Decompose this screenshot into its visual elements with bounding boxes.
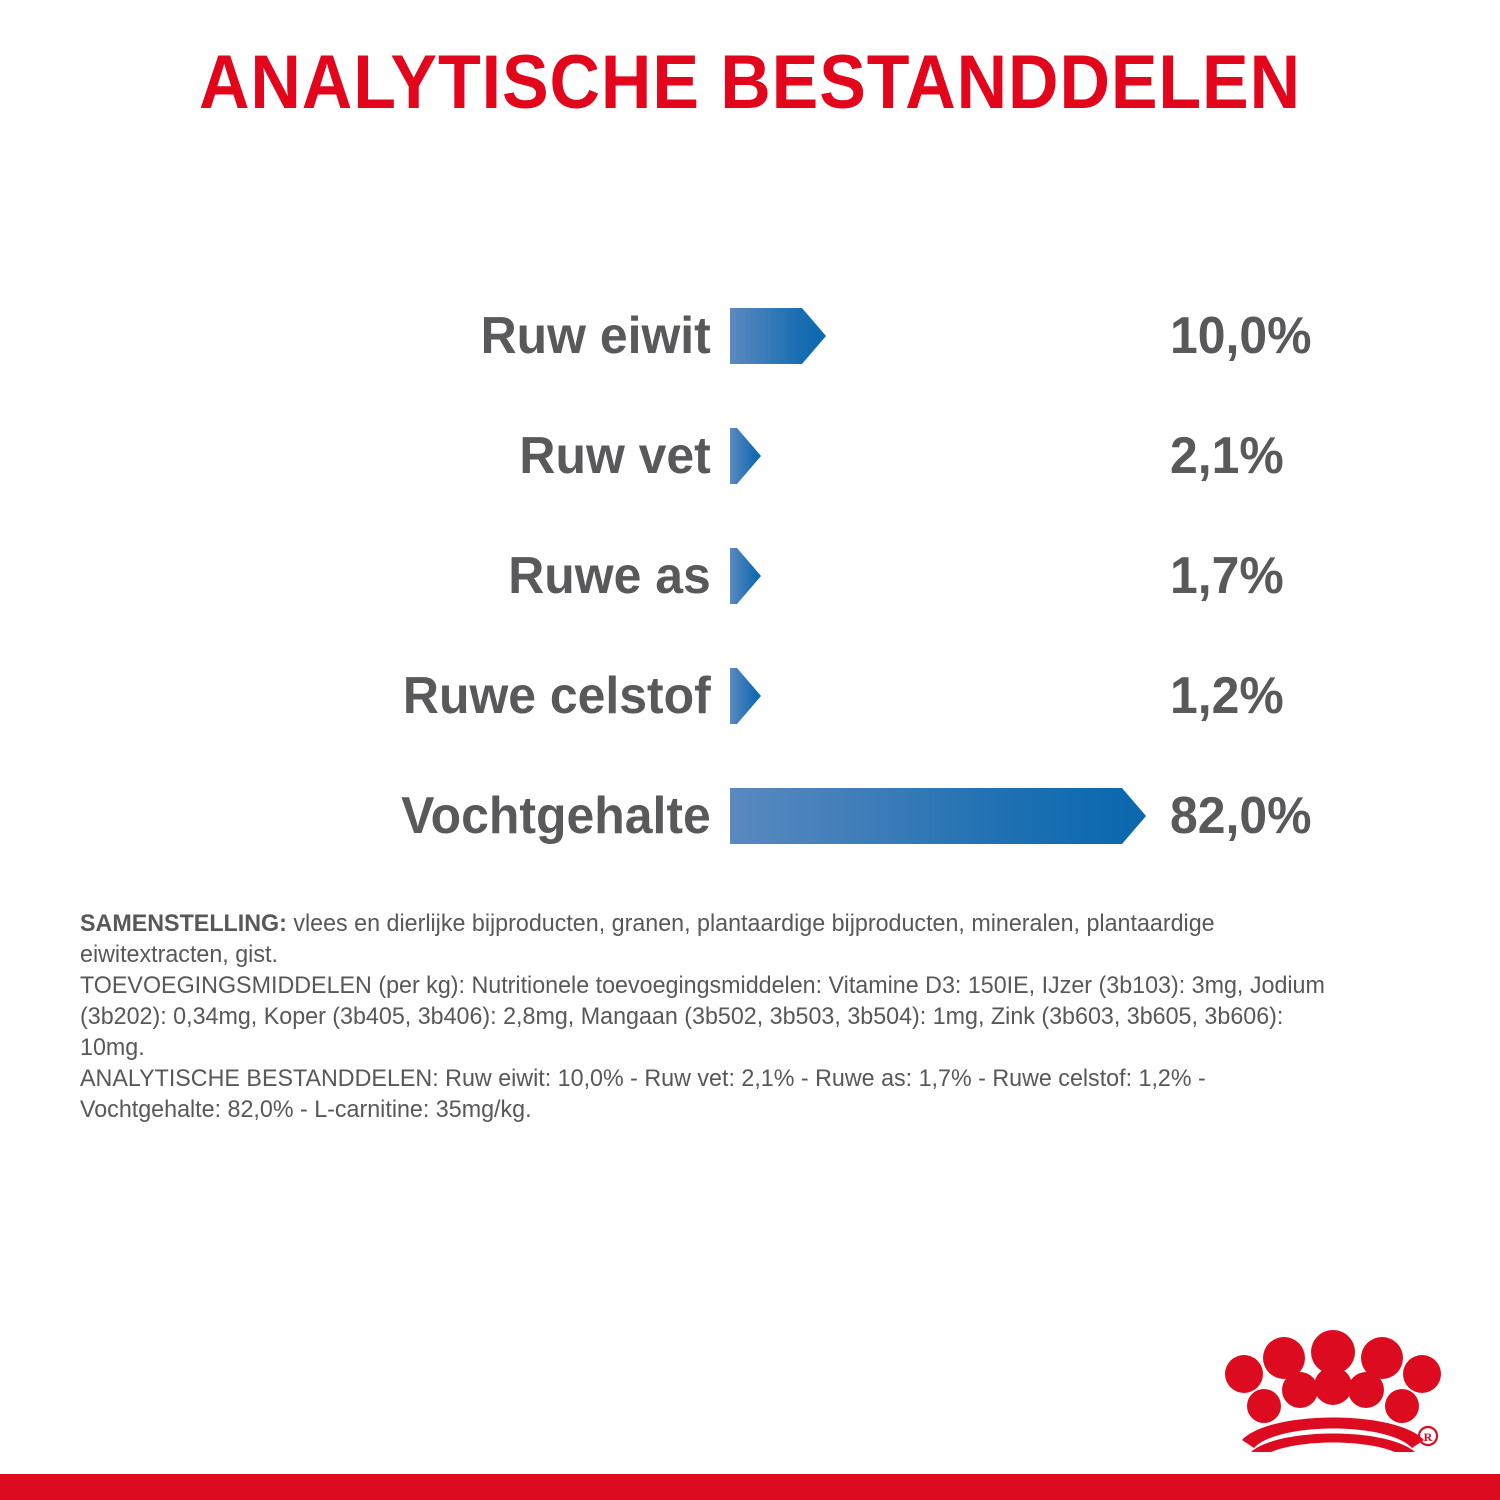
nutrient-value: 2,1% — [1170, 428, 1284, 484]
nutrient-label: Ruw eiwit — [29, 308, 730, 364]
nutrient-value: 1,2% — [1170, 668, 1284, 724]
registered-trademark-icon: R — [1419, 1427, 1437, 1445]
svg-text:R: R — [1424, 1430, 1433, 1444]
composition-heading: SAMENSTELLING: — [80, 910, 287, 937]
analytical-constituents-line: ANALYTISCHE BESTANDDELEN: Ruw eiwit: 10,… — [80, 1063, 1344, 1125]
royal-canin-crown-icon: R — [1222, 1322, 1444, 1452]
composition-text-block: SAMENSTELLING: vlees en dierlijke bijpro… — [80, 908, 1344, 1125]
nutrient-row: Vochtgehalte82,0% — [0, 756, 1500, 876]
nutrient-row: Ruw vet2,1% — [0, 396, 1500, 516]
nutrient-value: 10,0% — [1170, 308, 1312, 364]
nutrient-bar-track — [730, 428, 1170, 484]
nutrient-bar — [730, 668, 761, 724]
nutrient-label: Ruwe as — [29, 548, 730, 604]
nutrient-bar-track — [730, 788, 1170, 844]
nutrient-bar-track — [730, 548, 1170, 604]
nutrient-label: Vochtgehalte — [29, 788, 730, 844]
nutrient-value: 1,7% — [1170, 548, 1284, 604]
additives-line: TOEVOEGINGSMIDDELEN (per kg): Nutritione… — [80, 970, 1344, 1063]
composition-line-1: SAMENSTELLING: vlees en dierlijke bijpro… — [80, 908, 1344, 970]
bottom-red-band — [0, 1474, 1500, 1500]
nutrient-row: Ruw eiwit10,0% — [0, 276, 1500, 396]
nutrient-bar-track — [730, 668, 1170, 724]
nutrient-bar — [730, 548, 761, 604]
nutrient-value: 82,0% — [1170, 788, 1312, 844]
nutrient-label: Ruw vet — [29, 428, 730, 484]
analytical-constituents-table: Ruw eiwit10,0%Ruw vet2,1%Ruwe as1,7%Ruwe… — [0, 276, 1500, 876]
nutrient-bar — [730, 308, 826, 364]
nutrient-bar-track — [730, 308, 1170, 364]
nutrient-bar — [730, 428, 761, 484]
nutrient-row: Ruwe as1,7% — [0, 516, 1500, 636]
nutrient-label: Ruwe celstof — [29, 668, 730, 724]
nutrient-bar — [730, 788, 1146, 844]
nutrient-row: Ruwe celstof1,2% — [0, 636, 1500, 756]
page-title: ANALYTISCHE BESTANDDELEN — [60, 38, 1440, 128]
